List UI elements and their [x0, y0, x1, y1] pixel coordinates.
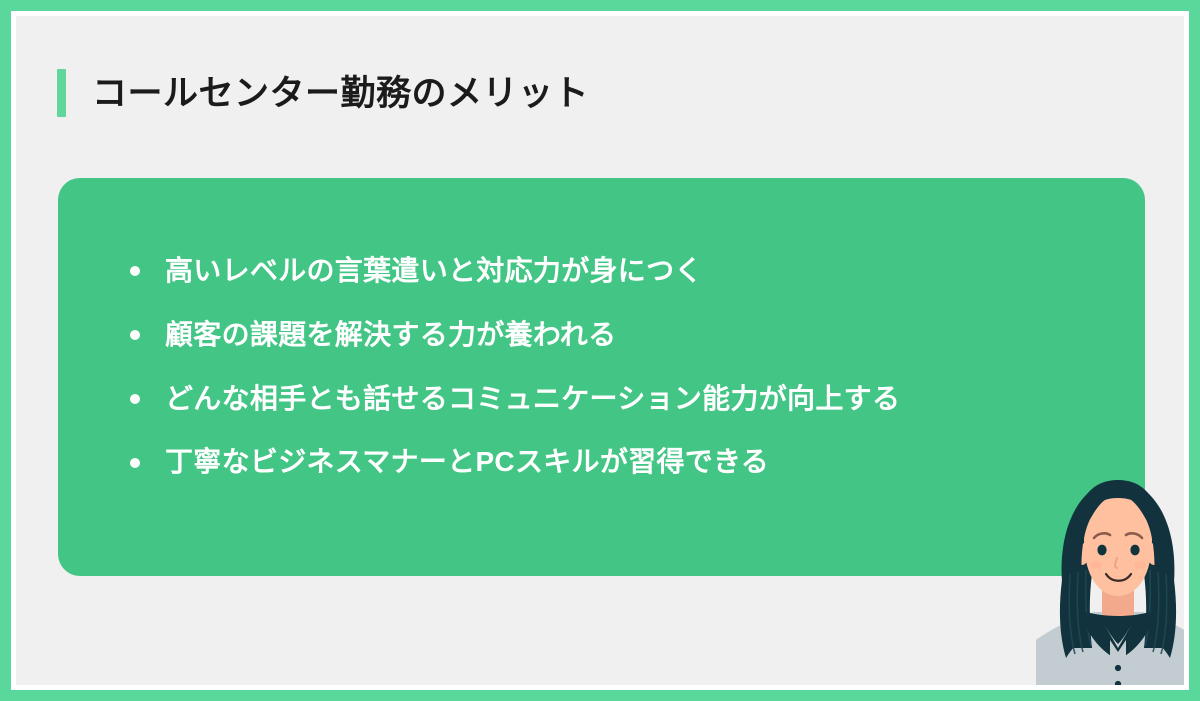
page-title: コールセンター勤務のメリット	[92, 76, 589, 111]
page-title-row: コールセンター勤務のメリット	[57, 69, 589, 117]
cheek-right-shape	[1134, 561, 1146, 569]
benefits-card: 高いレベルの言葉遣いと対応力が身につく 顧客の課題を解決する力が養われる どんな…	[58, 178, 1145, 576]
slide-canvas: コールセンター勤務のメリット 高いレベルの言葉遣いと対応力が身につく 顧客の課題…	[16, 16, 1184, 685]
list-item: 高いレベルの言葉遣いと対応力が身につく	[130, 256, 900, 287]
list-item-label: 顧客の課題を解決する力が養われる	[165, 320, 616, 351]
list-item-label: 高いレベルの言葉遣いと対応力が身につく	[165, 256, 703, 287]
eye-right-shape	[1130, 545, 1139, 556]
bullet-dot-icon	[130, 330, 140, 340]
button-icon	[1115, 665, 1121, 671]
slide-root: コールセンター勤務のメリット 高いレベルの言葉遣いと対応力が身につく 顧客の課題…	[0, 0, 1200, 701]
cheek-left-shape	[1090, 561, 1102, 569]
bullet-dot-icon	[130, 394, 140, 404]
list-item: 顧客の課題を解決する力が養われる	[130, 320, 900, 351]
benefits-list: 高いレベルの言葉遣いと対応力が身につく 顧客の課題を解決する力が養われる どんな…	[130, 256, 900, 478]
list-item-label: 丁寧なビジネスマナーとPCスキルが習得できる	[165, 447, 769, 478]
eye-left-shape	[1097, 545, 1106, 556]
bullet-dot-icon	[130, 266, 140, 276]
bullet-dot-icon	[130, 458, 140, 468]
list-item-label: どんな相手とも話せるコミュニケーション能力が向上する	[165, 384, 900, 415]
list-item: 丁寧なビジネスマナーとPCスキルが習得できる	[130, 447, 900, 478]
title-accent-bar	[57, 69, 66, 117]
woman-portrait-illustration	[1036, 462, 1184, 685]
list-item: どんな相手とも話せるコミュニケーション能力が向上する	[130, 384, 900, 415]
